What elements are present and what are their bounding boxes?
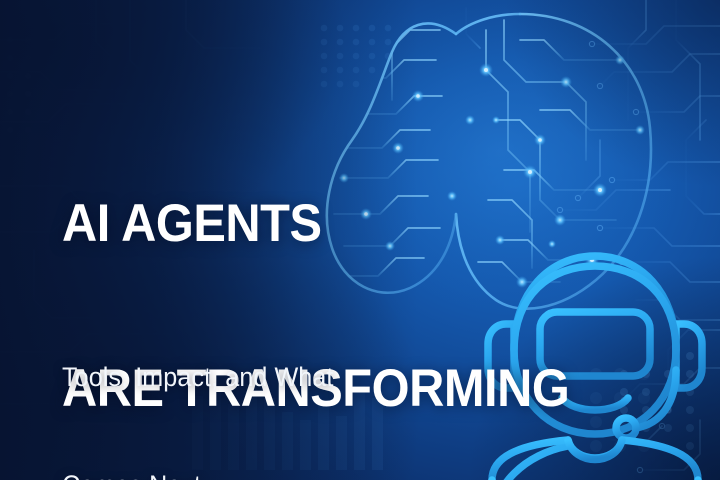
subtitle-line-1: Tools, Impact, and What xyxy=(62,359,334,395)
headline-line-1: AI AGENTS xyxy=(62,196,569,251)
title-slide: AI AGENTS ARE TRANSFORMING THE WAY WE WO… xyxy=(0,0,720,480)
subtitle-line-2: Comes Next xyxy=(62,467,334,480)
page-subtitle: Tools, Impact, and What Comes Next xyxy=(62,287,334,480)
